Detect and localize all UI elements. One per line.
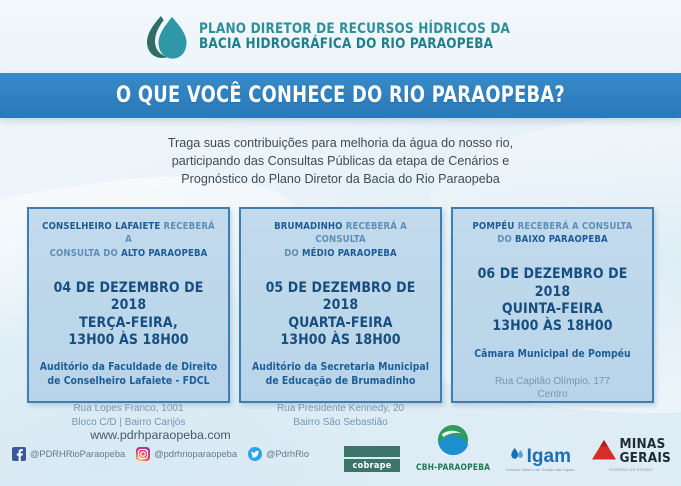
event-heading-mid: RECEBERÁ A CONSULTA (515, 221, 633, 232)
event-card-list: CONSELHEIRO LAFAIETE RECEBERÁ A CONSULTA… (0, 207, 681, 403)
intro-paragraph: Traga suas contribuições para melhoria d… (0, 135, 681, 189)
social-link-twitter[interactable]: @PdrhRio (248, 447, 309, 461)
igam-lockup: Igam (510, 446, 571, 466)
igam-wordmark: Igam (527, 447, 571, 466)
brand-title: PLANO DIRETOR DE RECURSOS HÍDRICOS DA BA… (199, 22, 537, 52)
partner-logo-minas-gerais: MINAS GERAIS GOVERNO DO ESTADO (591, 438, 671, 472)
event-date: 04 DE DEZEMBRO DE 2018 (38, 280, 219, 315)
partner-logo-cbh-paraopeba: CBH-PARAOPEBA (416, 424, 490, 472)
intro-line-3: Prognóstico do Plano Diretor da Bacia do… (0, 171, 681, 189)
event-venue: Auditório da Secretaria Municipal de Edu… (250, 360, 431, 388)
headline-text: O QUE VOCÊ CONHECE DO RIO PARAOPEBA? (116, 83, 565, 108)
instagram-icon (136, 447, 150, 461)
event-address: Rua Capitão Olímpio, 177 Centro (462, 375, 643, 401)
event-datetime: 06 DE DEZEMBRO DE 2018 QUINTA-FEIRA 13H0… (462, 266, 643, 335)
event-date: 05 DE DEZEMBRO DE 2018 (250, 280, 431, 315)
event-card: CONSELHEIRO LAFAIETE RECEBERÁ A CONSULTA… (27, 207, 230, 403)
minas-gerais-lockup: MINAS GERAIS (591, 438, 671, 466)
event-venue-line1: Câmara Municipal de Pompéu (462, 347, 643, 361)
event-region: ALTO PARAOPEBA (121, 248, 207, 259)
cobrape-bar-icon (344, 446, 400, 457)
event-venue-line2: de Educação de Brumadinho (250, 374, 431, 388)
event-address-line1: Rua Capitão Olímpio, 177 (462, 375, 643, 388)
minas-gerais-line2: GERAIS (620, 450, 671, 466)
partner-logo-cobrape: cobrape (344, 446, 400, 472)
event-card: POMPÉU RECEBERÁ A CONSULTA DO BAIXO PARA… (451, 207, 654, 403)
event-venue-line2: de Conselheiro Lafaiete - FDCL (38, 374, 219, 388)
header: PLANO DIRETOR DE RECURSOS HÍDRICOS DA BA… (0, 0, 681, 73)
intro-line-2: participando das Consultas Públicas da e… (0, 153, 681, 171)
event-venue-line1: Auditório da Secretaria Municipal (250, 360, 431, 374)
event-region: MÉDIO PARAOPEBA (302, 248, 397, 259)
igam-droplet-icon (510, 446, 525, 466)
brand-title-line2: BACIA HIDROGRÁFICA DO RIO PARAOPEBA (199, 37, 510, 52)
event-city: POMPÉU (473, 221, 515, 232)
minas-gerais-triangle-icon (591, 439, 617, 466)
cbh-circle-icon (437, 424, 469, 461)
poster-canvas: PLANO DIRETOR DE RECURSOS HÍDRICOS DA BA… (0, 0, 681, 486)
event-time: 13H00 ÀS 18H00 (250, 332, 431, 349)
igam-subtitle: Instituto Mineiro de Gestão das Águas (506, 468, 574, 472)
event-address-line1: Rua Lopes Franco, 1001 (38, 402, 219, 415)
footer: www.pdrhparaopeba.com @PDRHRioParaopeba (0, 424, 681, 486)
twitter-icon (248, 447, 262, 461)
event-card-heading: CONSELHEIRO LAFAIETE RECEBERÁ A CONSULTA… (38, 220, 219, 261)
intro-line-1: Traga suas contribuições para melhoria d… (0, 135, 681, 153)
event-weekday: TERÇA-FEIRA, (38, 315, 219, 332)
event-weekday: QUINTA-FEIRA (462, 301, 643, 318)
event-region: BAIXO PARAOPEBA (515, 234, 608, 245)
partner-logos: cobrape CBH-PARAOPEBA (344, 424, 671, 472)
social-link-instagram[interactable]: @pdrhrioparaopeba (136, 447, 237, 461)
event-venue: Auditório da Faculdade de Direito de Con… (38, 360, 219, 388)
event-city: BRUMADINHO (274, 221, 343, 232)
event-venue-line1: Auditório da Faculdade de Direito (38, 360, 219, 374)
event-heading-prefix: DO (497, 234, 515, 245)
event-heading-prefix: DO (284, 248, 302, 259)
event-weekday: QUARTA-FEIRA (250, 315, 431, 332)
minas-gerais-subtitle: GOVERNO DO ESTADO (609, 468, 653, 472)
event-card-heading: POMPÉU RECEBERÁ A CONSULTA DO BAIXO PARA… (462, 220, 643, 248)
partner-logo-igam: Igam Instituto Mineiro de Gestão das Águ… (506, 446, 574, 472)
headline-banner: O QUE VOCÊ CONHECE DO RIO PARAOPEBA? (0, 73, 681, 118)
event-card: BRUMADINHO RECEBERÁ A CONSULTA DO MÉDIO … (239, 207, 442, 403)
event-date: 06 DE DEZEMBRO DE 2018 (462, 266, 643, 301)
social-link-facebook[interactable]: @PDRHRioParaopeba (12, 447, 125, 461)
water-drop-leaf-icon (144, 13, 188, 61)
event-time: 13H00 ÀS 18H00 (462, 318, 643, 335)
event-venue: Câmara Municipal de Pompéu (462, 347, 643, 361)
event-card-heading: BRUMADINHO RECEBERÁ A CONSULTA DO MÉDIO … (250, 220, 431, 261)
facebook-icon (12, 447, 26, 461)
brand-lockup: PLANO DIRETOR DE RECURSOS HÍDRICOS DA BA… (144, 13, 537, 61)
event-time: 13H00 ÀS 18H00 (38, 332, 219, 349)
cbh-wordmark: CBH-PARAOPEBA (416, 462, 490, 472)
social-handle-facebook: @PDRHRioParaopeba (30, 449, 125, 459)
event-datetime: 05 DE DEZEMBRO DE 2018 QUARTA-FEIRA 13H0… (250, 280, 431, 349)
social-handle-instagram: @pdrhrioparaopeba (154, 449, 237, 459)
event-address-line2: Centro (462, 388, 643, 401)
social-handle-twitter: @PdrhRio (266, 449, 309, 459)
event-datetime: 04 DE DEZEMBRO DE 2018 TERÇA-FEIRA, 13H0… (38, 280, 219, 349)
minas-gerais-wordmark: MINAS GERAIS (620, 438, 671, 466)
event-city: CONSELHEIRO LAFAIETE (42, 221, 160, 232)
social-links: @PDRHRioParaopeba (0, 447, 321, 461)
cobrape-wordmark: cobrape (344, 459, 400, 472)
event-address-line1: Rua Presidente Kennedy, 20 (250, 402, 431, 415)
website-url[interactable]: www.pdrhparaopeba.com (0, 428, 321, 442)
event-heading-prefix: CONSULTA DO (50, 248, 121, 259)
